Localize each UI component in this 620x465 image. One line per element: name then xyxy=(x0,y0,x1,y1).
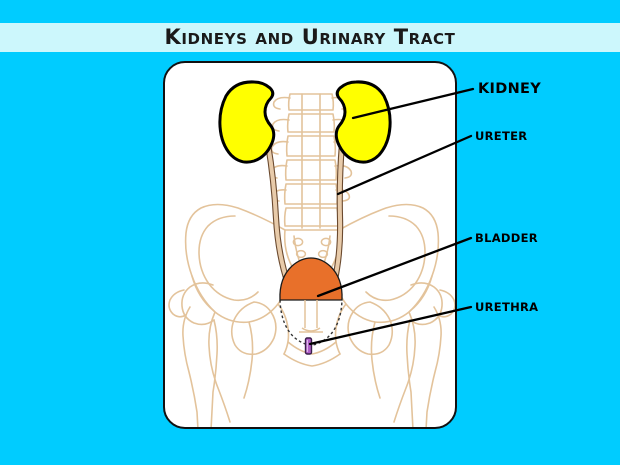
bladder-neck xyxy=(299,300,323,332)
kidney-right xyxy=(336,82,390,162)
label-bladder: BLADDER xyxy=(475,231,538,245)
pelvis-right xyxy=(334,205,438,423)
pelvis-left xyxy=(186,205,290,423)
urethra xyxy=(306,338,312,354)
label-urethra: URETHRA xyxy=(475,300,538,314)
label-ureter: URETER xyxy=(475,129,527,143)
label-kidney: KIDNEY xyxy=(478,81,541,97)
slide-canvas: Kidneys and Urinary Tract xyxy=(0,0,620,465)
page-title: Kidneys and Urinary Tract xyxy=(0,23,620,52)
anatomy-illustration xyxy=(163,61,457,429)
kidney-left xyxy=(220,82,274,162)
diagram-panel xyxy=(163,61,457,429)
